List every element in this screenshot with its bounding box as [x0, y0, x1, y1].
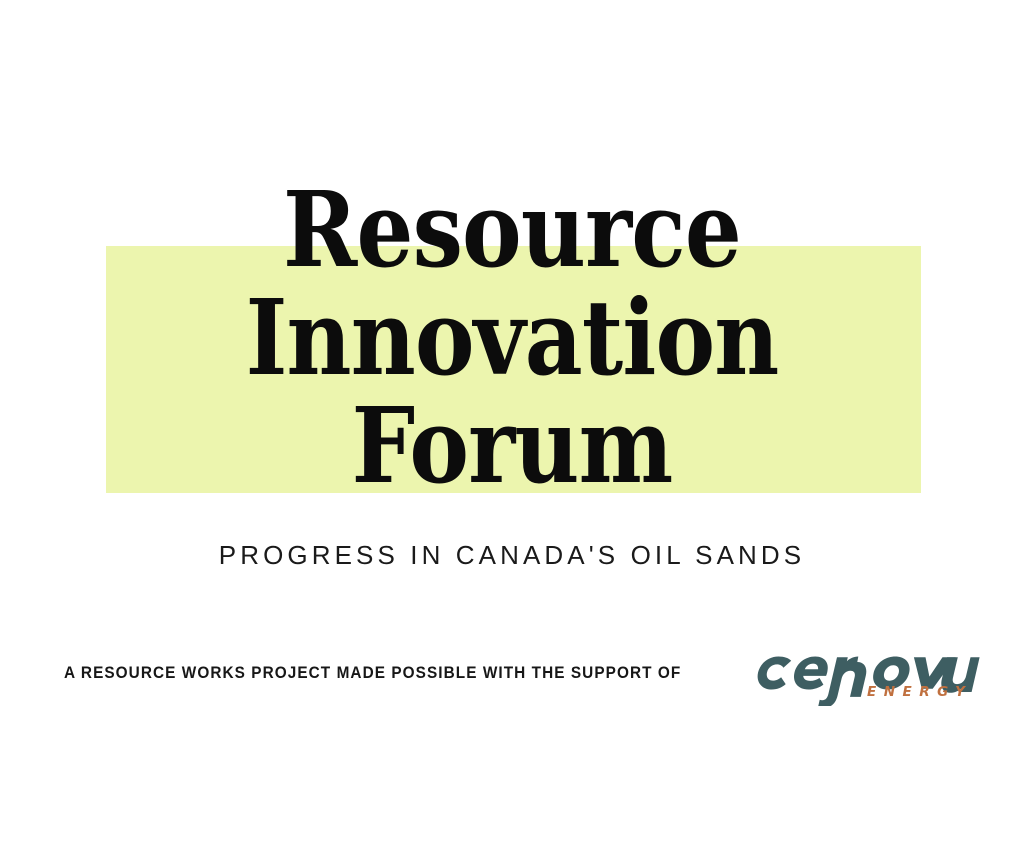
cenovus-energy-tagline: ENERGY — [867, 686, 972, 700]
poster-canvas: Resource Innovation Forum PROGRESS IN CA… — [0, 0, 1024, 853]
title-line-1: Resource — [72, 176, 953, 284]
title-line-2: Innovation — [72, 284, 953, 392]
poster-subtitle: PROGRESS IN CANADA'S OIL SANDS — [0, 540, 1024, 570]
title-line-3: Forum — [72, 392, 953, 500]
poster-title: Resource Innovation Forum — [0, 176, 1024, 500]
sponsor-credit-text: A RESOURCE WORKS PROJECT MADE POSSIBLE W… — [64, 663, 681, 683]
cenovus-energy-logo: ENERGY — [748, 636, 980, 706]
